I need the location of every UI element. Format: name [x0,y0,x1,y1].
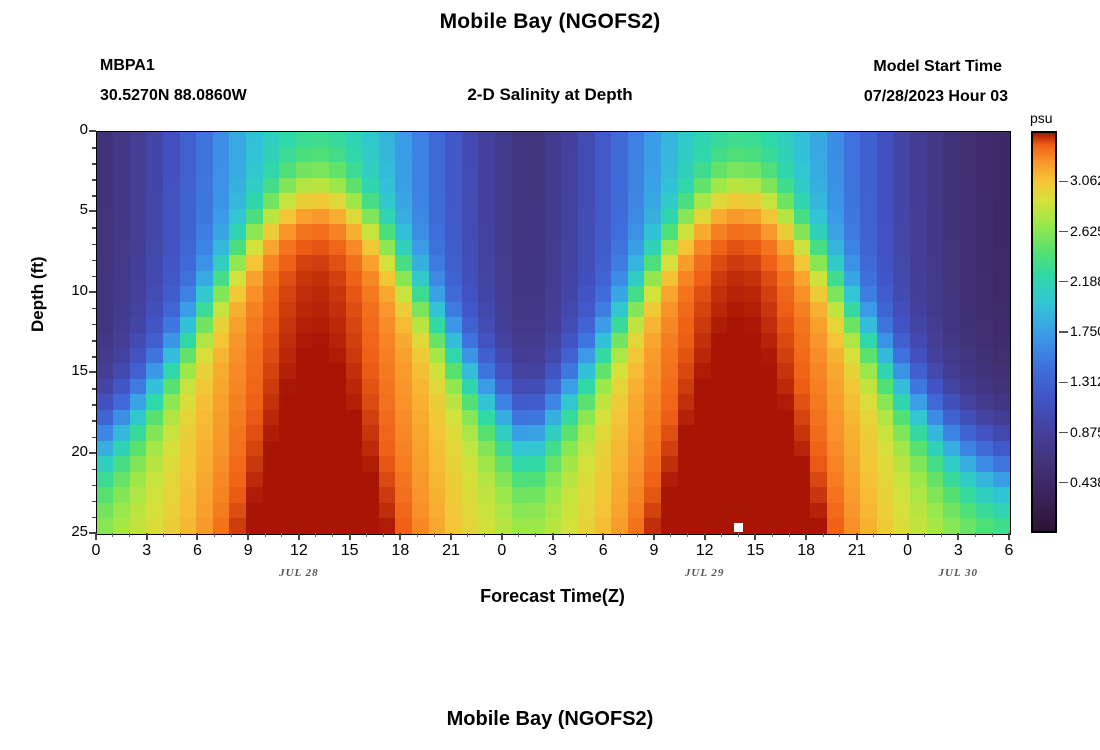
y-axis-minor-tick [92,227,96,229]
x-axis-tick-label: 0 [81,542,111,560]
x-axis-minor-tick [129,533,130,537]
y-axis-minor-tick [92,195,96,197]
x-axis-minor-tick [975,533,976,537]
x-axis-minor-tick [315,533,316,537]
x-axis-tick-label: 0 [893,542,923,560]
x-axis-tick [298,533,300,540]
y-axis-tick-label: 15 [48,362,88,379]
y-axis-tick [89,371,96,373]
x-axis-minor-tick [839,533,840,537]
x-axis-tick-label: 18 [385,542,415,560]
x-axis-tick [957,533,959,540]
x-axis-tick [196,533,198,540]
y-axis-minor-tick [92,260,96,262]
colorbar-tick [1059,432,1068,434]
x-axis-tick [1008,533,1010,540]
y-axis-tick-label: 5 [48,201,88,218]
colorbar-tick [1059,382,1068,384]
x-axis-tick-label: 9 [639,542,669,560]
page-title: Mobile Bay (NGOFS2) [0,10,1100,34]
x-axis-tick [146,533,148,540]
x-axis-minor-tick [467,533,468,537]
x-axis-minor-tick [586,533,587,537]
y-axis-minor-tick [92,147,96,149]
x-axis-minor-tick [941,533,942,537]
y-axis-minor-tick [92,437,96,439]
colorbar-tick-label: 2.625 [1070,223,1100,239]
x-axis-date-label: JUL 30 [923,567,993,579]
colorbar-tick [1059,231,1068,233]
x-axis-minor-tick [637,533,638,537]
model-start-time-value: 07/28/2023 Hour 03 [864,88,1008,106]
x-axis-minor-tick [772,533,773,537]
x-axis-minor-tick [163,533,164,537]
x-axis-minor-tick [738,533,739,537]
x-axis-tick [856,533,858,540]
x-axis-minor-tick [823,533,824,537]
x-axis-tick-label: 18 [791,542,821,560]
x-axis-minor-tick [434,533,435,537]
y-axis-tick-label: 10 [48,282,88,299]
y-axis-minor-tick [92,485,96,487]
colorbar-tick-label: 0.875 [1070,424,1100,440]
x-axis-minor-tick [281,533,282,537]
x-axis-tick-label: 12 [284,542,314,560]
y-axis-minor-tick [92,404,96,406]
x-axis-minor-tick [383,533,384,537]
colorbar-tick [1059,331,1068,333]
colorbar-tick-label: 1.750 [1070,323,1100,339]
x-axis-minor-tick [265,533,266,537]
x-axis-minor-tick [670,533,671,537]
x-axis-tick-label: 0 [487,542,517,560]
x-axis-tick-label: 15 [740,542,770,560]
colorbar[interactable] [1031,131,1057,533]
y-axis-minor-tick [92,501,96,503]
x-axis-title: Forecast Time(Z) [96,586,1009,607]
x-axis-tick-label: 21 [436,542,466,560]
x-axis-tick-label: 6 [588,542,618,560]
axis-tick-layer [96,131,1009,533]
x-axis-tick [501,533,503,540]
y-axis-minor-tick [92,469,96,471]
x-axis-tick [247,533,249,540]
y-axis-minor-tick [92,388,96,390]
colorbar-tick-label: 0.438 [1070,474,1100,490]
x-axis-tick-label: 6 [182,542,212,560]
y-axis-minor-tick [92,324,96,326]
y-axis-tick [89,452,96,454]
x-axis-tick-label: 3 [538,542,568,560]
x-axis-minor-tick [890,533,891,537]
x-axis-minor-tick [569,533,570,537]
x-axis-tick [653,533,655,540]
y-axis-minor-tick [92,244,96,246]
x-axis-tick-label: 21 [842,542,872,560]
x-axis-tick [552,533,554,540]
y-axis-minor-tick [92,340,96,342]
x-axis-tick-label: 6 [994,542,1024,560]
x-axis-tick-label: 9 [233,542,263,560]
x-axis-minor-tick [518,533,519,537]
colorbar-unit-label: psu [1030,110,1053,126]
colorbar-tick-label: 2.188 [1070,273,1100,289]
y-axis-minor-tick [92,276,96,278]
x-axis-date-label: JUL 29 [670,567,740,579]
colorbar-tick [1059,482,1068,484]
x-axis-tick [399,533,401,540]
x-axis-minor-tick [332,533,333,537]
x-axis-minor-tick [992,533,993,537]
y-axis-minor-tick [92,420,96,422]
y-axis-minor-tick [92,517,96,519]
x-axis-minor-tick [366,533,367,537]
x-axis-minor-tick [180,533,181,537]
colorbar-gradient [1033,133,1055,531]
y-axis-tick-label: 0 [48,121,88,138]
station-id-label: MBPA1 [100,57,155,75]
y-axis-tick-label: 25 [48,523,88,540]
x-axis-minor-tick [924,533,925,537]
x-axis-tick [754,533,756,540]
x-axis-minor-tick [231,533,232,537]
x-axis-minor-tick [873,533,874,537]
colorbar-tick [1059,181,1068,183]
colorbar-tick-label: 1.312 [1070,373,1100,389]
y-axis-minor-tick [92,179,96,181]
model-start-time-label: Model Start Time [873,58,1002,76]
y-axis-tick [89,210,96,212]
colorbar-tick-label: 3.062 [1070,172,1100,188]
y-axis-minor-tick [92,308,96,310]
x-axis-minor-tick [417,533,418,537]
x-axis-tick [95,533,97,540]
x-axis-tick-label: 15 [335,542,365,560]
x-axis-tick [450,533,452,540]
x-axis-tick-label: 3 [943,542,973,560]
y-axis-tick-label: 20 [48,443,88,460]
x-axis-tick-label: 12 [690,542,720,560]
x-axis-minor-tick [112,533,113,537]
y-axis-title: Depth (ft) [28,256,48,332]
x-axis-tick [805,533,807,540]
x-axis-minor-tick [484,533,485,537]
x-axis-date-label: JUL 28 [264,567,334,579]
x-axis-tick [704,533,706,540]
y-axis-minor-tick [92,163,96,165]
y-axis-tick [89,291,96,293]
x-axis-minor-tick [687,533,688,537]
x-axis-tick-label: 3 [132,542,162,560]
x-axis-tick [602,533,604,540]
x-axis-minor-tick [214,533,215,537]
x-axis-minor-tick [620,533,621,537]
x-axis-minor-tick [535,533,536,537]
x-axis-minor-tick [721,533,722,537]
y-axis-tick [89,130,96,132]
y-axis-minor-tick [92,356,96,358]
colorbar-tick [1059,281,1068,283]
x-axis-tick [907,533,909,540]
x-axis-tick [349,533,351,540]
footer-title: Mobile Bay (NGOFS2) [0,708,1100,731]
x-axis-minor-tick [789,533,790,537]
